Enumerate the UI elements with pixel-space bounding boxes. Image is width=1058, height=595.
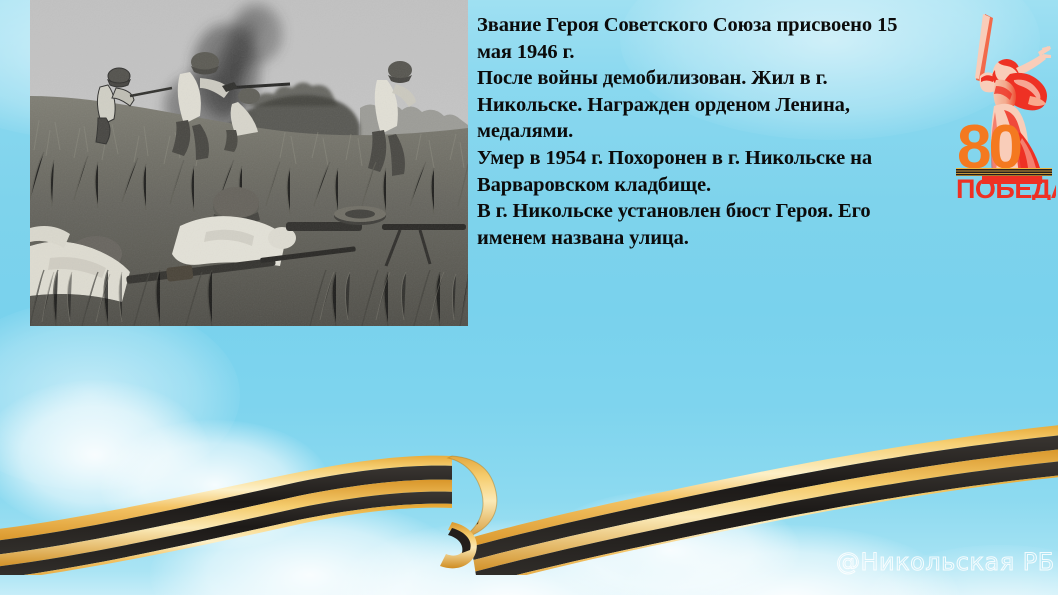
text-line-2: мая 1946 г. — [477, 39, 947, 66]
text-line-4: Никольске. Награжден орденом Ленина, — [477, 92, 947, 119]
wwii-battle-photo — [30, 0, 468, 326]
text-line-6: Умер в 1954 г. Похоронен в г. Никольске … — [477, 145, 947, 172]
text-line-7: Варваровском кладбище. — [477, 172, 947, 199]
text-line-3: После войны демобилизован. Жил в г. — [477, 65, 947, 92]
victory-word: ПОБЕДА! — [956, 174, 1056, 200]
text-line-1: Звание Героя Советского Союза присвоено … — [477, 12, 947, 39]
slide-canvas: Звание Героя Советского Союза присвоено … — [0, 0, 1058, 595]
ribbon-segment-left — [0, 452, 456, 575]
biography-text-block: Звание Героя Советского Союза присвоено … — [477, 12, 947, 251]
text-line-8: В г. Никольске установлен бюст Героя. Ег… — [477, 198, 947, 225]
text-line-9: именем названа улица. — [477, 225, 947, 252]
victory-80-anniversary-logo: 80 ПОБЕДА! — [952, 8, 1056, 200]
text-line-5: медалями. — [477, 118, 947, 145]
watermark-label: @Никольская РБ — [836, 548, 1055, 576]
ribbon-tail-loop — [440, 522, 477, 568]
svg-text:ПОБЕДА!: ПОБЕДА! — [956, 174, 1056, 200]
